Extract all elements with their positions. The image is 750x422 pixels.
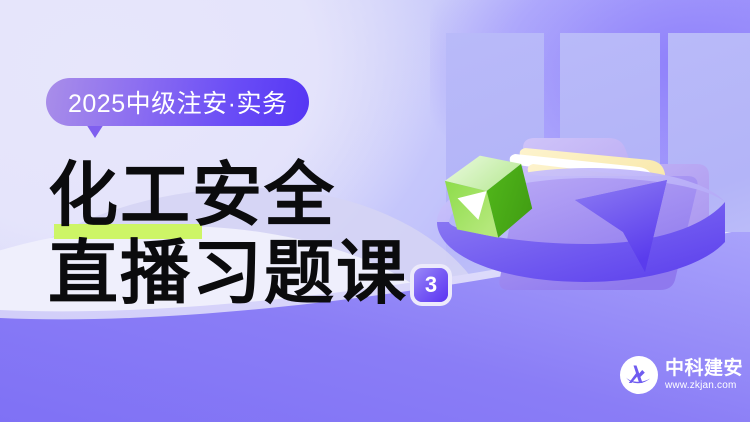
folder-refresh-illustration <box>425 120 750 345</box>
topic-badge-tail <box>86 124 104 138</box>
brand-logo: 中科建安 www.zkjan.com <box>620 356 743 394</box>
headline-row-2: 直播习题课 3 <box>48 236 448 314</box>
brand-url: www.zkjan.com <box>665 379 743 392</box>
headline-line-2: 直播习题课 <box>48 236 408 314</box>
headline-block: 化工安全 直播习题课 3 <box>48 158 448 314</box>
course-promo-banner: 2025中级注安·实务 化工安全 直播习题课 3 中科建安 www.zkjan.… <box>0 0 750 422</box>
headline-line-1: 化工安全 <box>48 158 336 236</box>
headline-row-1: 化工安全 <box>48 158 448 236</box>
brand-name: 中科建安 <box>665 358 743 379</box>
zkjan-circle-logo-icon <box>620 356 658 394</box>
episode-number-badge: 3 <box>414 268 448 302</box>
topic-badge: 2025中级注安·实务 <box>46 78 309 126</box>
topic-badge-label: 2025中级注安·实务 <box>68 84 287 120</box>
brand-text-block: 中科建安 www.zkjan.com <box>665 358 743 392</box>
